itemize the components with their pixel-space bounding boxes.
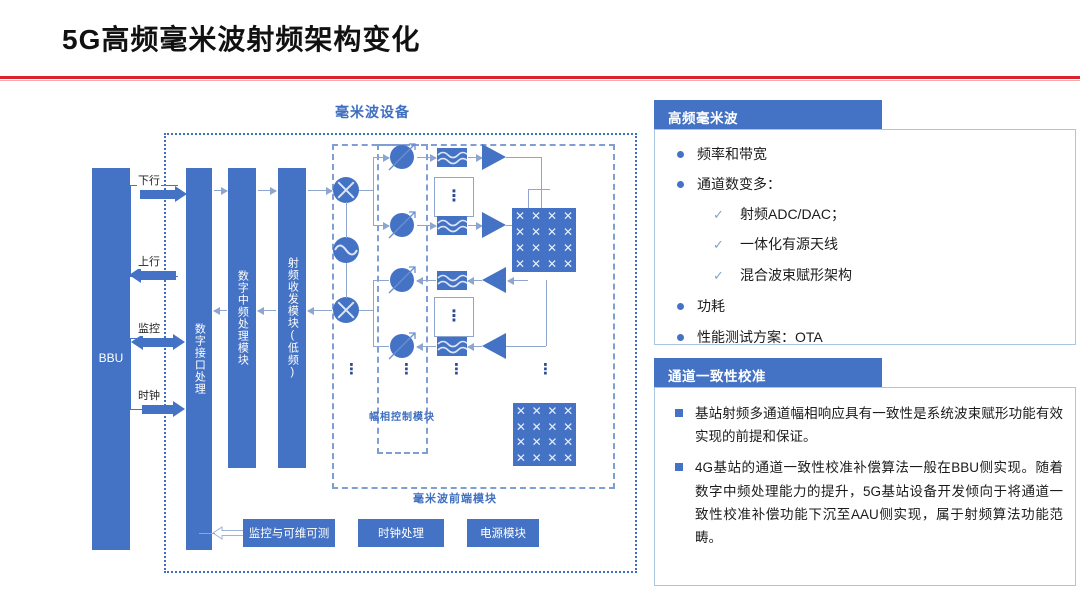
rx1-filter-arrow (417, 280, 436, 281)
filter-tx2-icon (437, 216, 467, 235)
calibration-text: 基站射频多通道幅相响应具有一致性是系统波束赋形功能有效实现的前提和保证。 (695, 402, 1063, 448)
rx2-filter-arrow (417, 346, 436, 347)
check-icon: ✓ (713, 205, 726, 225)
list-item: 通道数变多： (677, 174, 1065, 194)
monitor-label: 监控 (137, 320, 161, 336)
antenna-element: ✕ (547, 405, 557, 417)
antenna-element: ✕ (563, 436, 573, 448)
sub-bullet-text: 射频ADC/DAC； (740, 205, 845, 225)
phase-shifter-tx1-icon (390, 145, 414, 169)
vco-icon (333, 237, 359, 263)
antenna-element: ✕ (563, 258, 573, 270)
square-bullet-icon (675, 463, 683, 471)
list-item: ✓ 射频ADC/DAC； (713, 205, 1065, 225)
high-frequency-bullet-list: 频率和带宽 通道数变多： ✓ 射频ADC/DAC； ✓ 一体化有源天线 ✓ 混合… (677, 144, 1065, 357)
lo-wire-lower (346, 263, 347, 298)
panel-high-frequency-body: 频率和带宽 通道数变多： ✓ 射频ADC/DAC； ✓ 一体化有源天线 ✓ 混合… (654, 129, 1076, 345)
rf-transceiver-block: 射频收发模块(低频) (278, 168, 306, 468)
bullet-text: 通道数变多： (697, 174, 781, 194)
sub-bullet-list: ✓ 射频ADC/DAC； ✓ 一体化有源天线 ✓ 混合波束赋形架构 (713, 205, 1065, 286)
sub-bullet-text: 一体化有源天线 (740, 235, 838, 255)
mixer-tx-icon (333, 177, 359, 203)
antenna-element: ✕ (516, 421, 526, 433)
title-divider-light (0, 80, 1080, 81)
antenna-element: ✕ (547, 421, 557, 433)
digital-interface-block: 数字接口处理 (186, 168, 212, 550)
phase-shifter-rx1-icon (390, 268, 414, 292)
bbu-block: BBU (92, 168, 130, 550)
antenna-element: ✕ (516, 452, 526, 464)
antenna-element: ✕ (547, 452, 557, 464)
mixer-tx-out-wire (359, 190, 373, 191)
antenna-element: ✕ (515, 258, 525, 270)
title-divider-red (0, 76, 1080, 79)
mixer-rx-icon (333, 297, 359, 323)
bullet-text: 性能测试方案：OTA (697, 327, 823, 347)
mmwave-equipment-label: 毫米波设备 (335, 102, 410, 122)
antenna-column-ellipsis: ⋮ (538, 366, 553, 374)
mixer-rx-to-rf-arrow (308, 310, 332, 311)
panel-channel-calibration-body: 基站射频多通道幅相响应具有一致性是系统波束赋形功能有效实现的前提和保证。 4G基… (654, 387, 1076, 586)
antenna-element: ✕ (531, 210, 541, 222)
power-module-box: 电源模块 (467, 519, 539, 547)
antenna-element: ✕ (563, 242, 573, 254)
architecture-diagram: 毫米波设备 BBU 数字接口处理 数字中频处理模块 射频收发模块(低频) 下行 … (0, 88, 648, 600)
mixer-column-ellipsis: ⋮ (344, 366, 359, 374)
filter-rx2-icon (437, 337, 467, 356)
tx1-to-amp-arrow (468, 157, 482, 158)
mmwave-frontend-label: 毫米波前端模块 (413, 490, 497, 506)
filter-rx1-icon (437, 271, 467, 290)
bullet-text: 功耗 (697, 296, 725, 316)
rx2-antenna-wire-h (506, 346, 546, 347)
antenna-element: ✕ (547, 436, 557, 448)
antenna-element: ✕ (563, 452, 573, 464)
list-item: 功耗 (677, 296, 1065, 316)
low-noise-amplifier-rx1-icon (482, 267, 506, 293)
antenna-element: ✕ (547, 258, 557, 270)
bullet-dot-icon (677, 151, 684, 158)
antenna-element: ✕ (563, 226, 573, 238)
clock-arrow (142, 405, 174, 414)
sub-bullet-text: 混合波束赋形架构 (740, 266, 852, 286)
bullet-dot-icon (677, 334, 684, 341)
antenna-element: ✕ (532, 436, 542, 448)
tx1-antenna-wire-v (541, 157, 542, 209)
rf-to-dmid-arrow (258, 310, 276, 311)
low-noise-amplifier-rx2-icon (482, 333, 506, 359)
phase-column-ellipsis: ⋮ (399, 366, 414, 374)
power-amplifier-tx2-icon (482, 212, 506, 238)
panel-channel-calibration: 通道一致性校准 基站射频多通道幅相响应具有一致性是系统波束赋形功能有效实现的前提… (646, 358, 1076, 586)
rf-to-mixer-tx-arrow (308, 190, 332, 191)
list-item: 基站射频多通道幅相响应具有一致性是系统波束赋形功能有效实现的前提和保证。 (675, 402, 1063, 448)
list-item: 频率和带宽 (677, 144, 1065, 164)
calibration-item-list: 基站射频多通道幅相响应具有一致性是系统波束赋形功能有效实现的前提和保证。 4G基… (675, 402, 1063, 557)
antenna-element: ✕ (515, 242, 525, 254)
antenna-array-rx: ✕✕✕✕✕✕✕✕✕✕✕✕✕✕✕✕ (513, 403, 576, 466)
downlink-label: 下行 (137, 172, 161, 188)
antenna-array-tx: ✕✕✕✕✕✕✕✕✕✕✕✕✕✕✕✕ (512, 208, 576, 272)
check-icon: ✓ (713, 266, 726, 286)
antenna-element: ✕ (516, 436, 526, 448)
monitor-wire (199, 533, 215, 534)
antenna-element: ✕ (532, 405, 542, 417)
list-item: ✓ 一体化有源天线 (713, 235, 1065, 255)
antenna-element: ✕ (532, 421, 542, 433)
antenna-element: ✕ (547, 210, 557, 222)
rx1-lna-arrow (468, 280, 482, 281)
bullet-dot-icon (677, 303, 684, 310)
antenna-element: ✕ (531, 258, 541, 270)
uplink-label: 上行 (137, 253, 161, 269)
antenna-element: ✕ (531, 242, 541, 254)
page-title: 5G高频毫米波射频架构变化 (62, 18, 420, 58)
tx-ellipsis-box-1: ⋮ (434, 177, 474, 217)
lo-wire-upper (346, 202, 347, 238)
digital-if-processing-block: 数字中频处理模块 (228, 168, 256, 468)
rx-combine-bus (373, 280, 374, 346)
antenna-element: ✕ (547, 242, 557, 254)
uplink-arrow (140, 271, 176, 280)
rx2-lna-arrow (468, 346, 482, 347)
filter-column-ellipsis: ⋮ (449, 366, 464, 374)
check-icon: ✓ (713, 235, 726, 255)
monitor-arrow (142, 338, 174, 347)
phase-shifter-tx2-icon (390, 213, 414, 237)
tx1-to-filter-arrow (417, 157, 436, 158)
calibration-text: 4G基站的通道一致性校准补偿算法一般在BBU侧实现。随着数字中频处理能力的提升，… (695, 456, 1063, 549)
rx-ellipsis-box-1: ⋮ (434, 297, 474, 337)
antenna-element: ✕ (547, 226, 557, 238)
filter-tx1-icon (437, 148, 467, 167)
list-item: ✓ 混合波束赋形架构 (713, 266, 1065, 286)
square-bullet-icon (675, 409, 683, 417)
antenna-element: ✕ (563, 210, 573, 222)
bullet-text: 频率和带宽 (697, 144, 767, 164)
antenna-element: ✕ (516, 405, 526, 417)
antenna-element: ✕ (563, 405, 573, 417)
rx-antenna-wire-v (546, 280, 547, 346)
panel-high-frequency-mmwave: 高频毫米波 频率和带宽 通道数变多： ✓ 射频ADC/DAC； ✓ 一体化有源天… (646, 100, 1076, 345)
rx1-antenna-arrow (508, 280, 528, 281)
antenna-element: ✕ (532, 452, 542, 464)
downlink-arrow (140, 190, 176, 199)
power-amplifier-tx1-icon (482, 144, 506, 170)
mixer-rx-in-wire (359, 310, 373, 311)
dif-to-dmid-arrow (214, 190, 227, 191)
dmid-to-dif-arrow (214, 310, 227, 311)
antenna-element: ✕ (563, 421, 573, 433)
bullet-dot-icon (677, 181, 684, 188)
clock-processing-box: 时钟处理 (358, 519, 444, 547)
dmid-to-rf-arrow (258, 190, 276, 191)
phase-shifter-rx2-icon (390, 334, 414, 358)
tx2-to-amp-arrow (468, 225, 482, 226)
list-item: 性能测试方案：OTA (677, 327, 1065, 347)
antenna-element: ✕ (515, 226, 525, 238)
antenna-element: ✕ (515, 210, 525, 222)
tx-split-bus (373, 157, 374, 225)
tx2-antenna-wire-h2 (528, 189, 550, 190)
list-item: 4G基站的通道一致性校准补偿算法一般在BBU侧实现。随着数字中频处理能力的提升，… (675, 456, 1063, 549)
monitoring-box: 监控与可维可测 (243, 519, 335, 547)
antenna-element: ✕ (531, 226, 541, 238)
tx1-antenna-wire-h (506, 157, 541, 158)
tx2-to-filter-arrow (417, 225, 436, 226)
amplitude-phase-control-label: 幅相控制模块 (369, 408, 435, 423)
clock-label: 时钟 (137, 387, 161, 403)
